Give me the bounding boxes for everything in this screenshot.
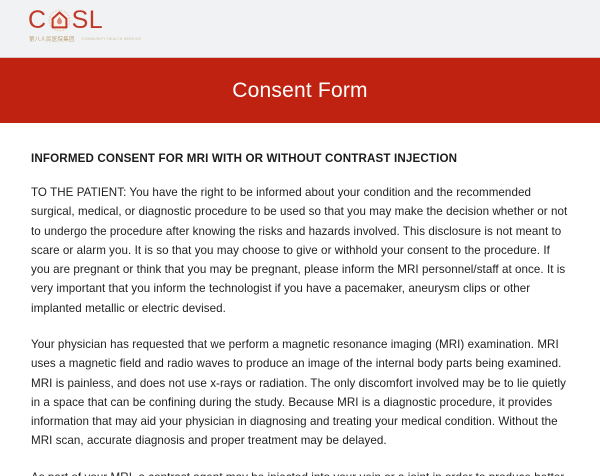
document-paragraph-2: Your physician has requested that we per… [31, 318, 569, 451]
logo-subtitle: 第八人民医院集团 COMMUNITY HEALTH SERVICE [29, 35, 124, 43]
logo-letter-s: S [72, 7, 89, 33]
cosl-logo[interactable]: C S L 第八人民医院集团 COMMUN [28, 7, 124, 49]
page-header: C S L 第八人民医院集团 COMMUN [0, 0, 600, 57]
logo-wordmark: C S L [28, 7, 124, 33]
document-heading: INFORMED CONSENT FOR MRI WITH OR WITHOUT… [31, 123, 569, 166]
banner-title: Consent Form [232, 80, 367, 101]
logo-letter-c: C [28, 7, 47, 33]
logo-letter-l: L [89, 7, 103, 33]
logo-subtitle-cn: 第八人民医院集团 [29, 35, 75, 43]
consent-form-banner: Consent Form [0, 57, 600, 123]
logo-subtitle-en: COMMUNITY HEALTH SERVICE [82, 37, 142, 41]
house-logo-icon [48, 9, 71, 32]
document-body: INFORMED CONSENT FOR MRI WITH OR WITHOUT… [0, 123, 600, 476]
document-paragraph-3: As part of your MRI, a contrast agent ma… [31, 451, 569, 476]
document-paragraph-1: TO THE PATIENT: You have the right to be… [31, 166, 569, 318]
